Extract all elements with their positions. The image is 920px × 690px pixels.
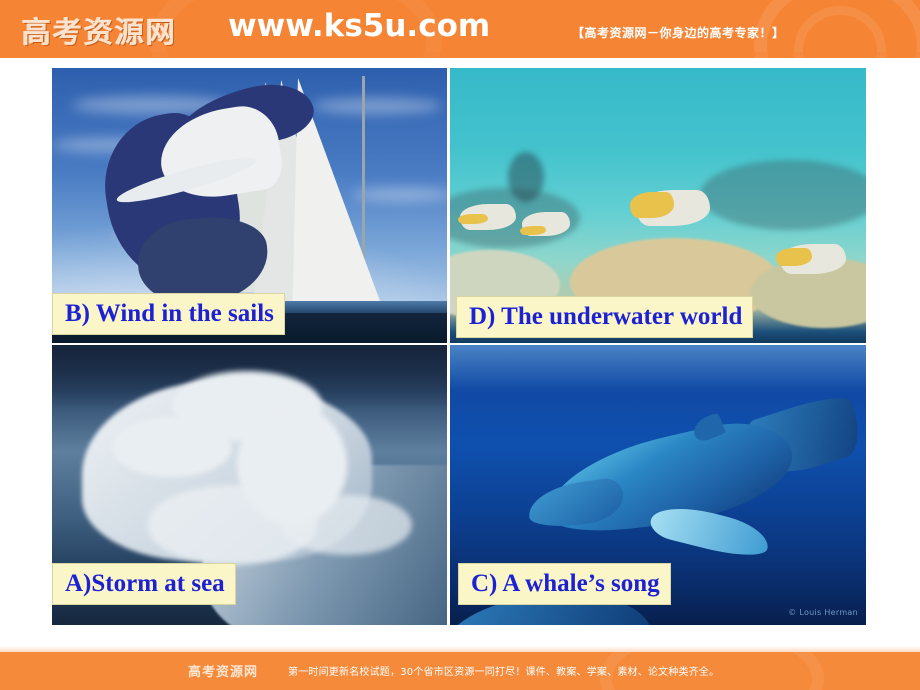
header-slogan: 【高考资源网－你身边的高考专家！】 bbox=[572, 24, 785, 41]
caption-the-underwater-world: D) The underwater world bbox=[456, 296, 753, 338]
photo-card-storm-wave[interactable]: A)Storm at sea bbox=[52, 345, 447, 625]
whale-water-surface bbox=[450, 345, 866, 391]
header-decor-swirl-right-inner bbox=[794, 6, 886, 58]
caption-storm-at-sea: A)Storm at sea bbox=[52, 563, 236, 605]
footer-description: 第一时间更新名校试题，30个省市区资源一同打尽！课件、教案、学案、素材、论文种类… bbox=[288, 663, 719, 678]
photo-card-coral-reef[interactable]: D) The underwater world bbox=[450, 68, 866, 343]
photo-card-whale[interactable]: © Louis Herman C) A whale’s song bbox=[450, 345, 866, 625]
site-footer-banner: 高考资源网 第一时间更新名校试题，30个省市区资源一同打尽！课件、教案、学案、素… bbox=[0, 652, 920, 690]
photo-card-sailboat[interactable]: B) Wind in the sails bbox=[52, 68, 447, 343]
photo-grid: B) Wind in the sails D) The underwater bbox=[52, 68, 866, 625]
footer-brand-chinese: 高考资源网 bbox=[188, 661, 258, 680]
caption-wind-in-the-sails: B) Wind in the sails bbox=[52, 293, 285, 335]
header-site-url[interactable]: www.ks5u.com bbox=[228, 8, 490, 44]
slide-content-area: B) Wind in the sails D) The underwater bbox=[0, 58, 920, 630]
site-header-banner: 高考资源网 www.ks5u.com 【高考资源网－你身边的高考专家！】 bbox=[0, 0, 920, 58]
photo-credit-label: © Louis Herman bbox=[788, 608, 858, 617]
caption-a-whales-song: C) A whale’s song bbox=[458, 563, 671, 605]
header-brand-chinese: 高考资源网 bbox=[22, 9, 177, 51]
